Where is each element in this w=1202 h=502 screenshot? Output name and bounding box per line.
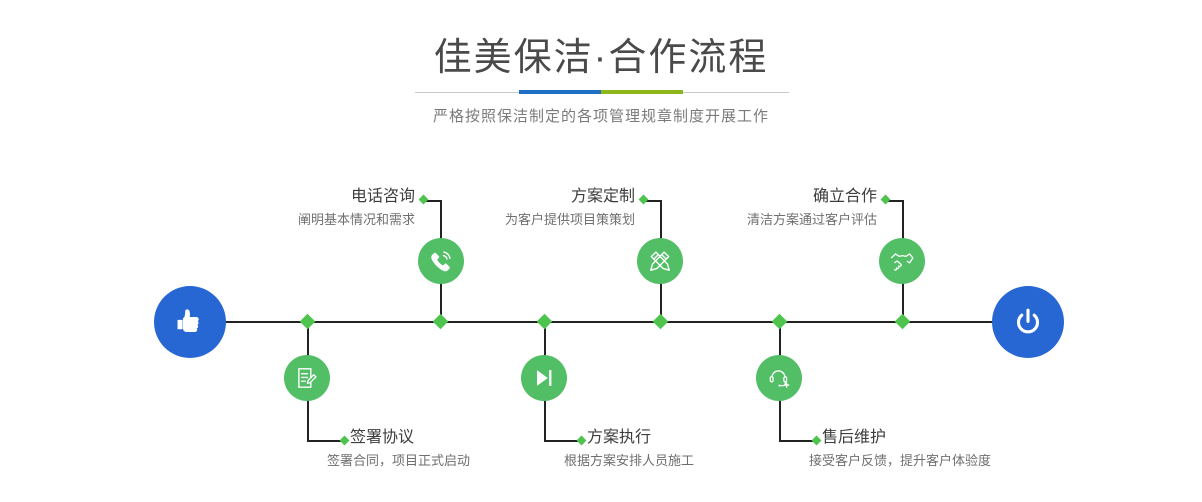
- step-desc-3: 为客户提供项目策策划: [430, 210, 635, 230]
- step-label-5: 确立合作 清洁方案通过客户评估: [672, 186, 877, 230]
- step-marker-axis-1: [433, 314, 449, 330]
- step-marker-axis-6: [772, 314, 788, 330]
- step-label-1: 电话咨询 阐明基本情况和需求: [210, 186, 415, 230]
- step-title-3: 方案定制: [430, 186, 635, 208]
- step-connector-h-6: [779, 440, 815, 442]
- step-title-2: 签署协议: [350, 427, 470, 449]
- title-divider-green-segment: [601, 90, 683, 94]
- step-desc-6: 接受客户反馈，提升客户体验度: [809, 451, 991, 471]
- step-connector-h-4: [544, 440, 580, 442]
- handshake-icon: [889, 248, 915, 274]
- step-desc-1: 阐明基本情况和需求: [210, 210, 415, 230]
- play-next-icon: [531, 365, 557, 391]
- step-marker-label-3: [639, 195, 649, 205]
- page-subtitle: 严格按照保洁制定的各项管理规章制度开展工作: [0, 105, 1202, 126]
- step-title-1: 电话咨询: [210, 186, 415, 208]
- page-title: 佳美保洁·合作流程: [0, 36, 1202, 80]
- document-edit-icon: [294, 365, 320, 391]
- customer-service-add-icon: [766, 365, 792, 391]
- step-marker-label-2: [340, 436, 350, 446]
- flowchart-page: 佳美保洁·合作流程 严格按照保洁制定的各项管理规章制度开展工作 电话咨询 阐明基…: [0, 0, 1202, 502]
- step-label-4: 方案执行 根据方案安排人员施工: [587, 427, 694, 471]
- phone-call-icon: [428, 248, 454, 274]
- step-marker-axis-5: [895, 314, 911, 330]
- step-icon-circle-1: [418, 238, 464, 284]
- power-button-icon: [1009, 303, 1047, 341]
- step-icon-circle-4: [521, 355, 567, 401]
- title-divider-blue-segment: [519, 90, 601, 94]
- step-title-6: 售后维护: [822, 427, 991, 449]
- step-desc-5: 清洁方案通过客户评估: [672, 210, 877, 230]
- step-icon-circle-2: [284, 355, 330, 401]
- step-marker-label-4: [577, 436, 587, 446]
- step-title-5: 确立合作: [672, 186, 877, 208]
- pencil-ruler-icon: [647, 248, 673, 274]
- step-marker-axis-4: [537, 314, 553, 330]
- step-marker-label-1: [419, 195, 429, 205]
- step-marker-label-6: [812, 436, 822, 446]
- timeline-end-node: [992, 286, 1064, 358]
- step-desc-4: 根据方案安排人员施工: [564, 451, 694, 471]
- pointing-hand-icon: [171, 303, 209, 341]
- step-marker-axis-2: [300, 314, 316, 330]
- step-label-3: 方案定制 为客户提供项目策策划: [430, 186, 635, 230]
- step-marker-axis-3: [653, 314, 669, 330]
- step-desc-2: 签署合同，项目正式启动: [327, 451, 470, 471]
- step-icon-circle-5: [879, 238, 925, 284]
- timeline-start-node: [154, 286, 226, 358]
- step-icon-circle-3: [637, 238, 683, 284]
- step-marker-label-5: [881, 195, 891, 205]
- step-title-4: 方案执行: [587, 427, 694, 449]
- step-icon-circle-6: [756, 355, 802, 401]
- step-connector-h-2: [307, 440, 343, 442]
- step-label-6: 售后维护 接受客户反馈，提升客户体验度: [822, 427, 991, 471]
- step-label-2: 签署协议 签署合同，项目正式启动: [350, 427, 470, 471]
- page-header: 佳美保洁·合作流程 严格按照保洁制定的各项管理规章制度开展工作: [0, 0, 1202, 150]
